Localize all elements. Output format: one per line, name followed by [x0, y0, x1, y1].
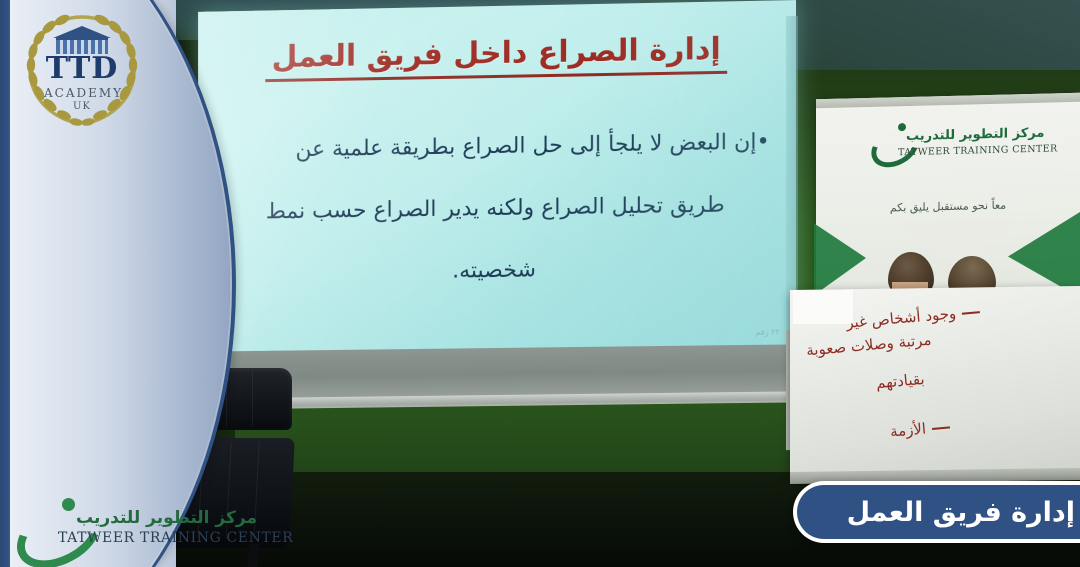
ttd-country-label: UK	[44, 101, 120, 112]
swoosh-dot-icon	[62, 498, 75, 511]
slide-body-line-1: •إن البعض لا يلجأ إلى حل الصراع بطريقة ع…	[222, 111, 770, 182]
title-banner-text: إدارة فريق العمل	[847, 497, 1075, 528]
rollup-logo-arabic: مركز التطوير للتدريب	[906, 126, 1044, 144]
rollup-logo-english: TATWEER TRAINING CENTER	[898, 143, 1058, 158]
ttd-academy-logo: TTD ACADEMY UK	[18, 6, 146, 134]
tatweer-logo-english: TATWEER TRAINING CENTER	[58, 530, 293, 546]
classical-building-icon	[53, 26, 111, 52]
screenshot-root: إدارة الصراع داخل فريق العمل •إن البعض ل…	[0, 0, 1080, 567]
ttd-logo-core: TTD ACADEMY UK	[44, 26, 120, 112]
slide-footer-right: ٢٢ رقم	[755, 328, 779, 337]
ttd-academy-label: ACADEMY	[44, 86, 120, 100]
slide-body-line-2: طريق تحليل الصراع ولكنه يدير الصراع حسب …	[222, 174, 770, 244]
rollup-logo: مركز التطوير للتدريب TATWEER TRAINING CE…	[870, 119, 1070, 172]
slide-body: •إن البعض لا يلجأ إلى حل الصراع بطريقة ع…	[222, 111, 770, 305]
tatweer-logo-arabic: مركز التطوير للتدريب	[76, 508, 257, 528]
chevron-left-shape	[814, 222, 866, 295]
projection-screen: إدارة الصراع داخل فريق العمل •إن البعض ل…	[196, 6, 794, 356]
ttd-initials: TTD	[44, 54, 120, 84]
tatweer-logo: مركز التطوير للتدريب TATWEER TRAINING CE…	[14, 494, 200, 556]
chair-leg	[247, 544, 259, 567]
slide-title: إدارة الصراع داخل فريق العمل	[198, 30, 796, 83]
slide-body-line-3: شخصيته.	[222, 236, 770, 305]
whiteboard-highlight	[793, 290, 853, 324]
title-banner: إدارة فريق العمل	[793, 481, 1080, 543]
presentation-slide: إدارة الصراع داخل فريق العمل •إن البعض ل…	[198, 0, 796, 353]
left-edge-stripe	[0, 0, 10, 567]
slide-title-text: إدارة الصراع داخل فريق العمل	[266, 32, 727, 83]
